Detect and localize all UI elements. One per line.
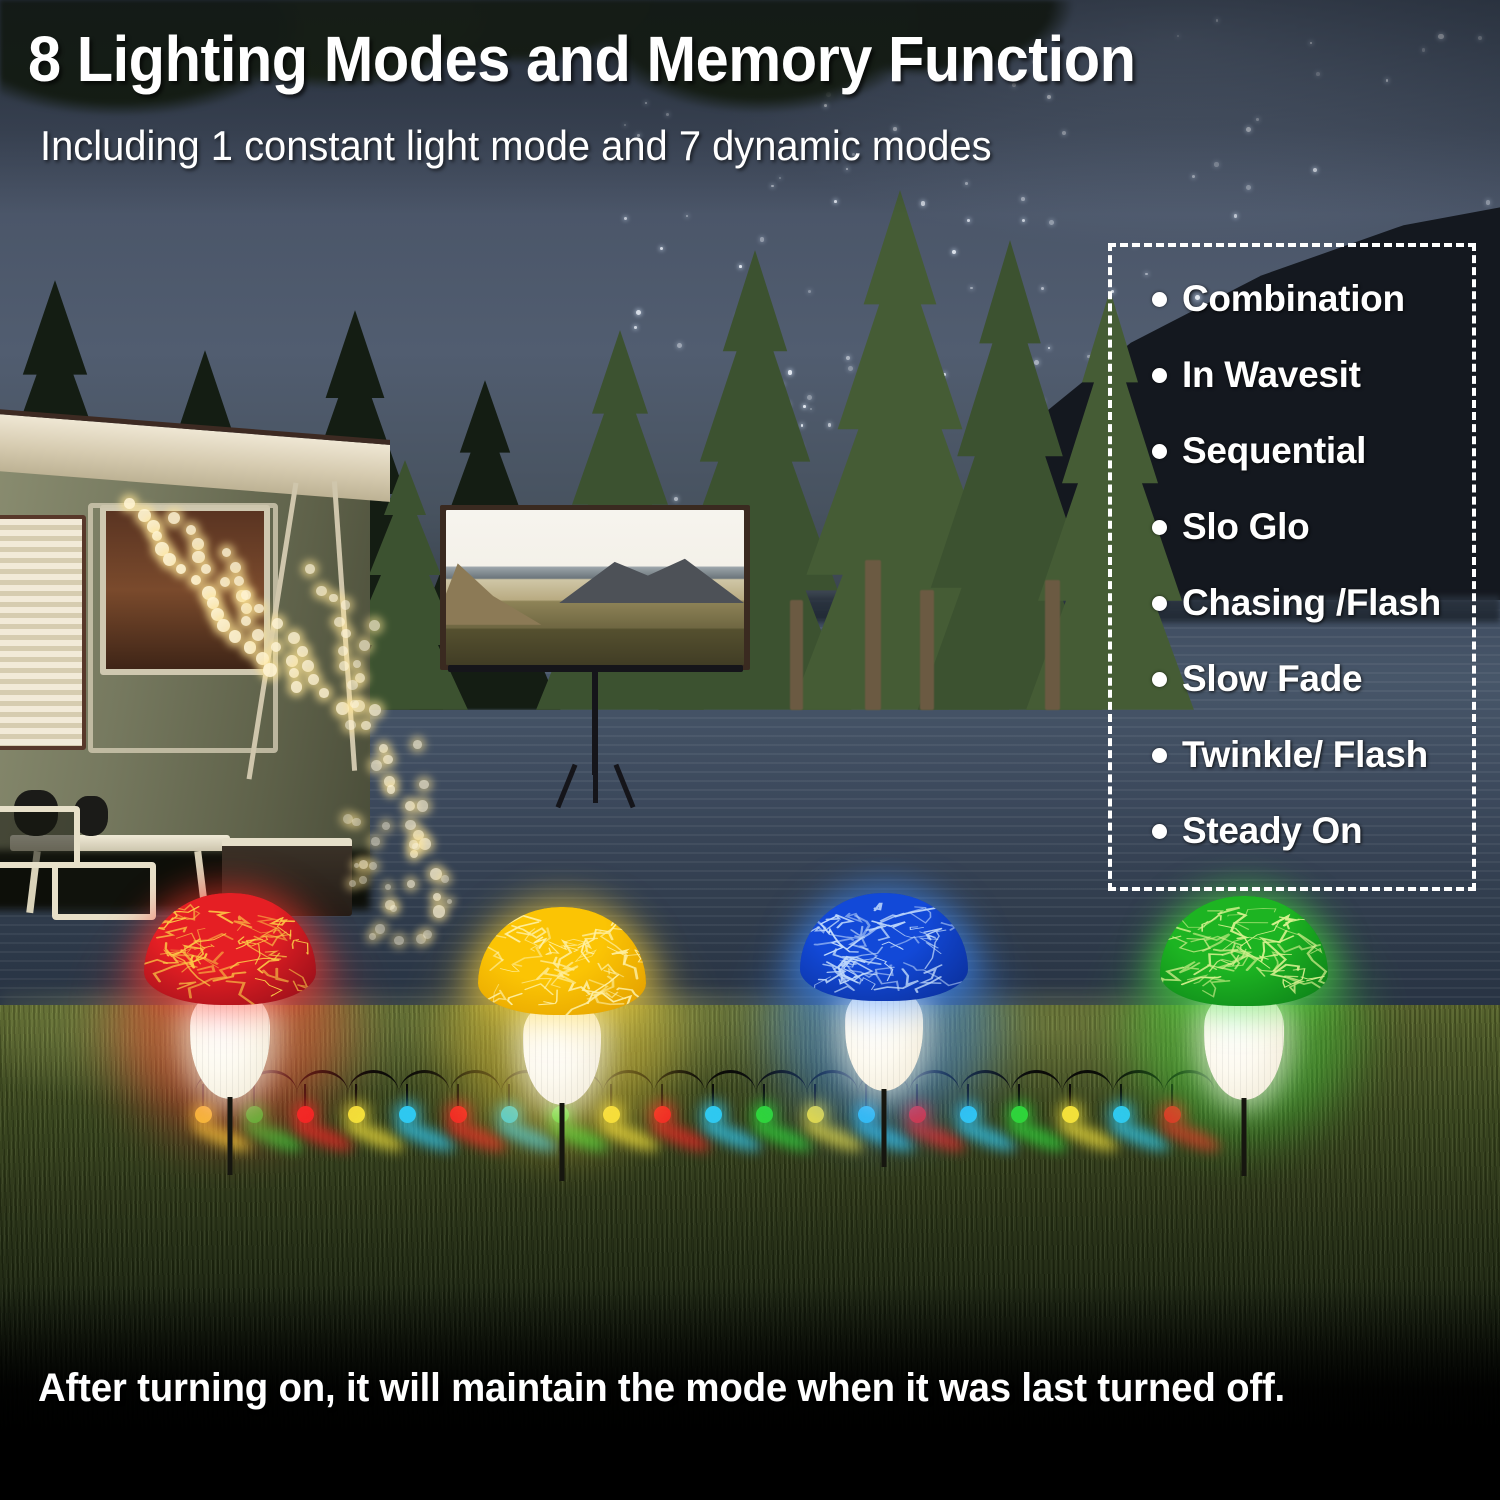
fairy-light-bulb — [361, 721, 370, 730]
mushroom-light-yellow — [478, 907, 646, 1189]
fairy-light-bulb — [229, 630, 242, 643]
ground-stake — [882, 1089, 887, 1167]
mode-item: Steady On — [1152, 793, 1472, 869]
rv-vent-panel — [0, 515, 86, 750]
string-bulb — [705, 1106, 722, 1123]
fairy-light-bulb — [252, 629, 264, 641]
bullet-icon — [1152, 520, 1167, 535]
bulb-wire — [355, 1084, 357, 1108]
camp-chair — [52, 862, 156, 920]
memory-function-note: After turning on, it will maintain the m… — [38, 1366, 1285, 1411]
fairy-light-bulb — [341, 600, 351, 610]
mushroom-cap — [800, 893, 968, 1001]
mode-item: Combination — [1152, 261, 1472, 337]
tree-trunk — [790, 600, 803, 710]
string-bulb — [348, 1106, 365, 1123]
fairy-light-bulb — [192, 538, 204, 550]
screen-image — [446, 510, 744, 665]
bullet-icon — [1152, 672, 1167, 687]
bulb-wire — [763, 1084, 765, 1108]
page-subtitle: Including 1 constant light mode and 7 dy… — [40, 122, 992, 170]
mode-label: Twinkle/ Flash — [1182, 734, 1428, 776]
mushroom-cap — [478, 907, 646, 1015]
mode-label: In Wavesit — [1182, 354, 1361, 396]
product-feature-image: 8 Lighting Modes and Memory Function Inc… — [0, 0, 1500, 1500]
ground-stake — [1242, 1098, 1247, 1176]
fairy-light-bulb — [220, 577, 230, 587]
bulb-wire — [457, 1084, 459, 1108]
fairy-light-bulb — [371, 837, 380, 846]
bullet-icon — [1152, 292, 1167, 307]
fairy-light-bulb — [345, 720, 355, 730]
fairy-light-bulb — [291, 681, 303, 693]
bullet-icon — [1152, 596, 1167, 611]
fairy-light-bulb — [316, 586, 327, 597]
bulb-wire — [1120, 1084, 1122, 1108]
fairy-light-bulb — [394, 936, 404, 946]
bulb-wire — [1069, 1084, 1071, 1108]
mushroom-crackle-texture — [1160, 896, 1328, 1006]
mode-label: Sequential — [1182, 430, 1366, 472]
mode-label: Combination — [1182, 278, 1405, 320]
fairy-light-bulb — [152, 531, 162, 541]
bulb-wire — [712, 1084, 714, 1108]
tree-trunk — [1045, 580, 1060, 710]
bullet-icon — [1152, 824, 1167, 839]
screen-mountain — [559, 550, 744, 603]
fairy-light-bulb — [375, 924, 385, 934]
projector-screen — [440, 505, 760, 805]
fairy-light-bulb — [350, 700, 358, 708]
fairy-light-bulb — [383, 755, 392, 764]
mode-item: Twinkle/ Flash — [1152, 717, 1472, 793]
tripod-leg — [593, 763, 598, 803]
tree-trunk — [865, 560, 881, 710]
lighting-modes-list: CombinationIn WavesitSequentialSlo GloCh… — [1112, 261, 1472, 869]
fairy-light-bulb — [334, 617, 345, 628]
mode-label: Slow Fade — [1182, 658, 1362, 700]
fairy-light-bulb — [263, 663, 277, 677]
fairy-light-bulb — [412, 843, 419, 850]
mode-item: In Wavesit — [1152, 337, 1472, 413]
bulb-wire — [1018, 1084, 1020, 1108]
lighting-modes-box: CombinationIn WavesitSequentialSlo GloCh… — [1108, 243, 1476, 891]
fairy-light-bulb — [319, 688, 329, 698]
fairy-light-bulb — [138, 509, 151, 522]
fairy-light-bulb — [405, 820, 415, 830]
fairy-light-bulb — [419, 780, 428, 789]
ground-stake — [228, 1097, 233, 1175]
fairy-light-bulb — [288, 632, 300, 644]
mushroom-light-red — [144, 893, 316, 1183]
multicolor-ground-bulb-string — [195, 1070, 1215, 1200]
mushroom-light-blue — [800, 893, 968, 1175]
bulb-wire — [406, 1084, 408, 1108]
screen-mountain — [446, 557, 541, 625]
fairy-light-bulb — [410, 850, 418, 858]
page-title: 8 Lighting Modes and Memory Function — [28, 22, 1136, 96]
mode-item: Chasing /Flash — [1152, 565, 1472, 641]
tripod-leg — [556, 764, 578, 809]
fairy-light-bulb — [387, 785, 396, 794]
fairy-light-bulb — [124, 498, 135, 509]
fairy-light-bulb — [286, 655, 298, 667]
mushroom-cap — [1160, 896, 1328, 1006]
mushroom-cap — [144, 893, 316, 1005]
fairy-light-bulb — [343, 814, 353, 824]
mode-item: Slo Glo — [1152, 489, 1472, 565]
mushroom-light-green — [1160, 896, 1328, 1184]
fairy-light-bulb — [419, 838, 431, 850]
mode-item: Slow Fade — [1152, 641, 1472, 717]
fairy-light-bulb — [297, 646, 308, 657]
mode-label: Steady On — [1182, 810, 1362, 852]
mushroom-crackle-texture — [144, 893, 316, 1005]
mushroom-crackle-texture — [800, 893, 968, 1001]
fairy-light-bulb — [352, 818, 360, 826]
mode-label: Slo Glo — [1182, 506, 1309, 548]
string-bulb — [399, 1106, 416, 1123]
fairy-light-bulb — [369, 620, 380, 631]
screen-pole — [592, 670, 598, 775]
fairy-light-bulb — [354, 863, 359, 868]
fairy-light-bulb — [423, 930, 432, 939]
mushroom-crackle-texture — [478, 907, 646, 1015]
fairy-light-bulb — [359, 876, 366, 883]
string-bulb — [654, 1106, 671, 1123]
screen-frame — [440, 505, 750, 670]
tree-trunk — [920, 590, 934, 710]
fairy-light-bulb — [407, 880, 415, 888]
fairy-light-bulb — [349, 880, 356, 887]
mode-label: Chasing /Flash — [1182, 582, 1441, 624]
fairy-light-bulb — [441, 875, 449, 883]
rv-door — [88, 503, 278, 753]
fairy-light-bulb — [244, 641, 257, 654]
string-bulb — [1113, 1106, 1130, 1123]
string-bulb — [450, 1106, 467, 1123]
string-bulb — [1062, 1106, 1079, 1123]
fairy-light-bulb — [241, 590, 251, 600]
fairy-light-bulb — [329, 594, 337, 602]
ground-stake — [560, 1103, 565, 1181]
bullet-icon — [1152, 748, 1167, 763]
fairy-light-bulb — [359, 860, 368, 869]
string-bulb — [1011, 1106, 1028, 1123]
fairy-light-bulb — [289, 668, 299, 678]
camp-chair — [0, 806, 80, 868]
tripod-leg — [614, 764, 636, 809]
fairy-light-bulb — [341, 629, 350, 638]
fairy-light-bulb — [371, 760, 382, 771]
fairy-light-bulb — [417, 800, 429, 812]
bullet-icon — [1152, 368, 1167, 383]
fairy-light-bulb — [308, 674, 319, 685]
fairy-light-bulb — [433, 905, 445, 917]
fairy-light-bulb — [305, 564, 315, 574]
bullet-icon — [1152, 444, 1167, 459]
fairy-light-bulb — [302, 660, 314, 672]
fairy-light-bulb — [413, 740, 422, 749]
fairy-light-bulb — [217, 619, 230, 632]
fairy-light-bulb — [336, 702, 349, 715]
mode-item: Sequential — [1152, 413, 1472, 489]
string-bulb — [756, 1106, 773, 1123]
